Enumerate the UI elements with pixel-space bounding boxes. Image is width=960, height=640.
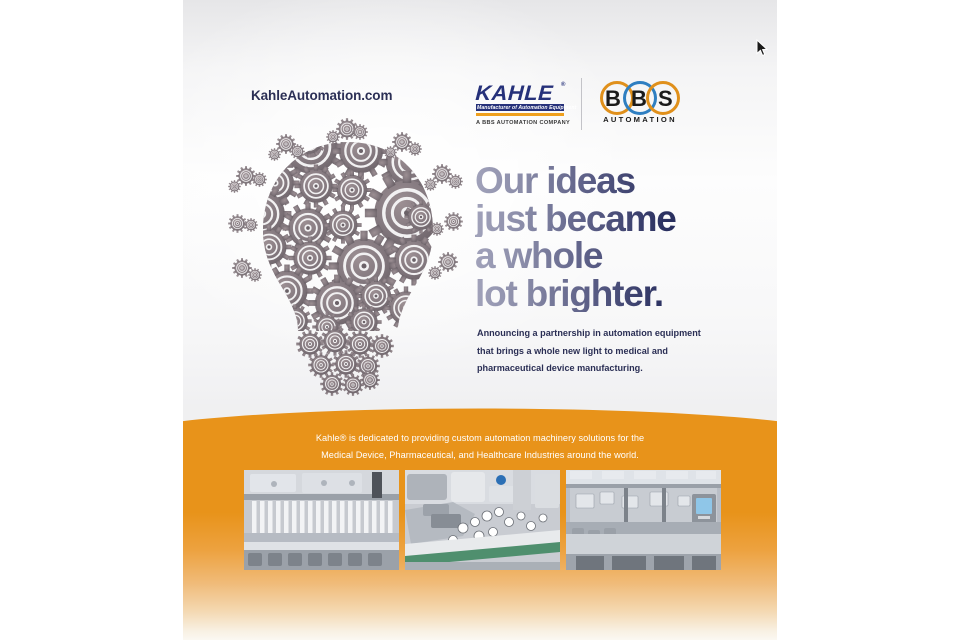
kahle-tagline-text: Manufacturer of Automation Equipment: [477, 105, 576, 111]
subcopy-paragraph: Announcing a partnership in automation e…: [477, 325, 727, 378]
banner-line-2: Medical Device, Pharmaceutical, and Heal…: [183, 447, 777, 464]
banner-text: Kahle® is dedicated to providing custom …: [183, 430, 777, 463]
bbs-letter-1: B: [605, 85, 621, 113]
bbs-letters: B B S: [595, 85, 685, 113]
subcopy-line-1: Announcing a partnership in automation e…: [477, 325, 727, 343]
kahle-orange-accent-bar: [476, 113, 564, 116]
headline: Our ideas just became a whole lot bright…: [475, 162, 765, 312]
headline-line-4: lot brighter.: [475, 275, 765, 313]
bbs-letter-2: B: [631, 85, 647, 113]
gear-lightbulb-illustration: [228, 118, 468, 403]
headline-line-2: just became: [475, 200, 765, 238]
logo-divider: [581, 78, 582, 130]
photo-precision-robotic-assembly[interactable]: [405, 470, 560, 570]
bbs-letter-3: S: [658, 85, 673, 113]
orange-banner-section: Kahle® is dedicated to providing custom …: [183, 404, 777, 640]
screenshot-viewport: KahleAutomation.com KAHLE ® Manufacturer…: [0, 0, 960, 640]
advertisement-page: KahleAutomation.com KAHLE ® Manufacturer…: [183, 0, 777, 640]
subcopy-line-2: that brings a whole new light to medical…: [477, 343, 727, 361]
kahle-wordmark-text: KAHLE: [475, 83, 568, 104]
photo-strip: [244, 470, 721, 570]
kahle-registered-mark: ®: [561, 82, 565, 88]
bbs-logo[interactable]: B B S AUTOMATION: [595, 80, 685, 130]
headline-line-1: Our ideas: [475, 162, 765, 200]
bbs-subtitle-text: AUTOMATION: [595, 115, 685, 124]
kahle-tagline-strip: Manufacturer of Automation Equipment: [476, 104, 564, 111]
photo-automation-production-machine[interactable]: [566, 470, 721, 570]
kahle-logo[interactable]: KAHLE ® Manufacturer of Automation Equip…: [476, 79, 569, 131]
headline-line-3: a whole: [475, 237, 765, 275]
site-url-text[interactable]: KahleAutomation.com: [251, 88, 392, 103]
kahle-company-line: A BBS AUTOMATION COMPANY: [476, 120, 566, 126]
banner-line-1: Kahle® is dedicated to providing custom …: [183, 430, 777, 447]
subcopy-line-3: pharmaceutical device manufacturing.: [477, 360, 727, 378]
photo-assembly-line-vials[interactable]: [244, 470, 399, 570]
